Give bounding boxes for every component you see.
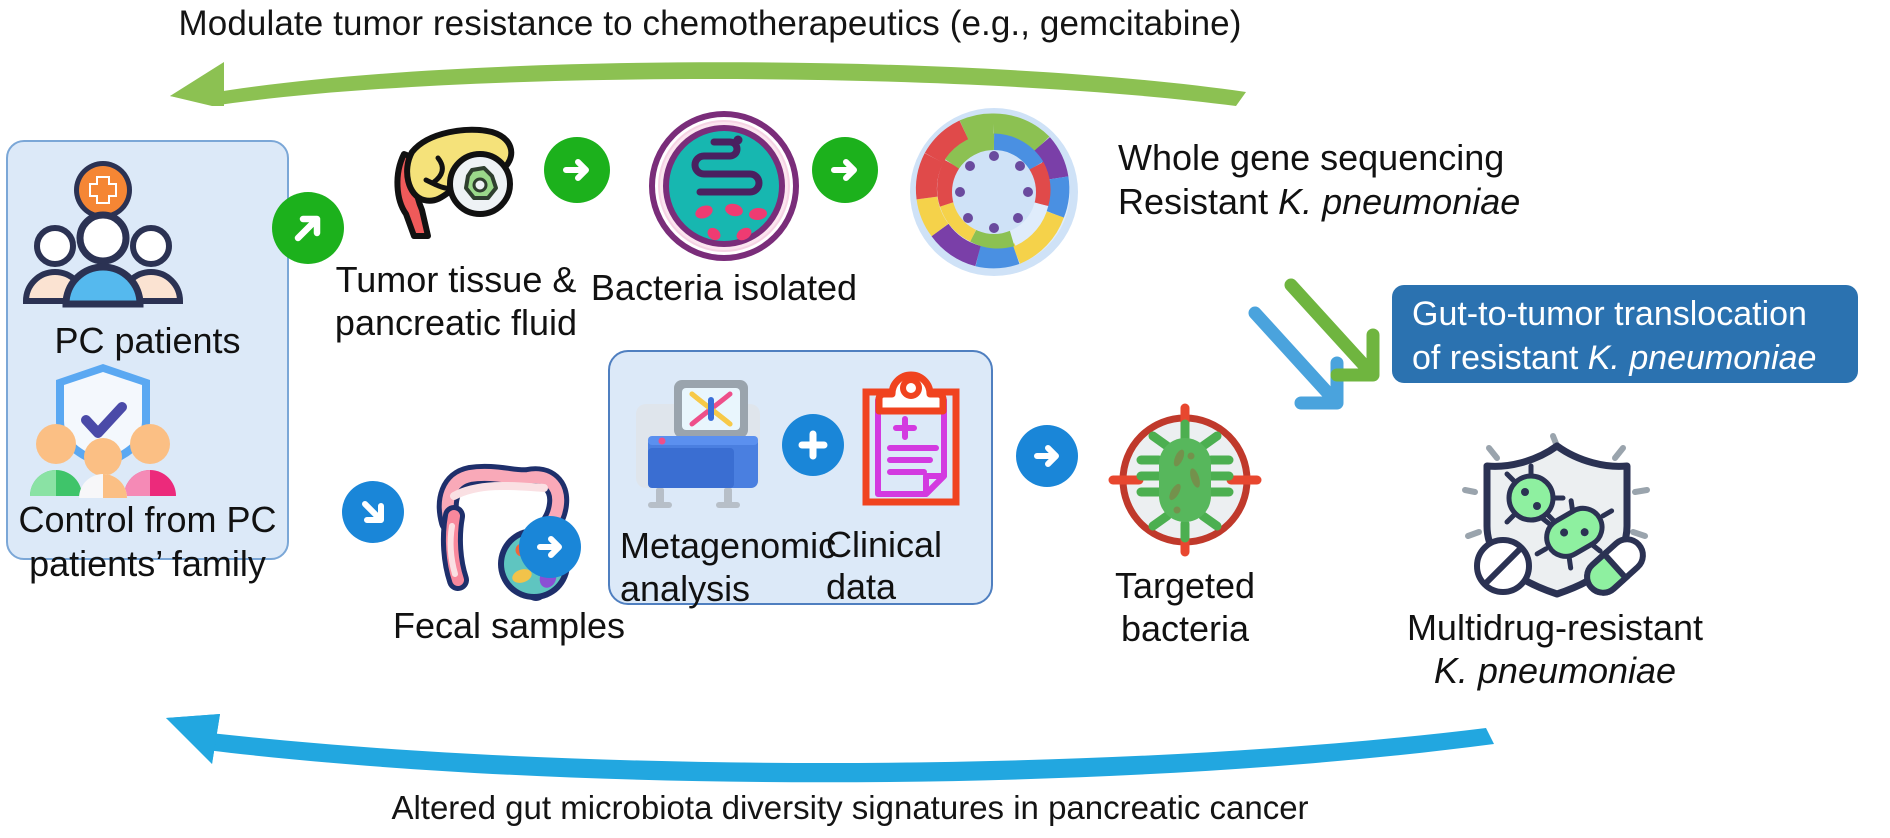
targeted-bacteria-icon <box>1105 400 1265 560</box>
bacteria-isolated-label: Bacteria isolated <box>591 267 857 308</box>
arrow-circle-blue-right-2 <box>1016 425 1078 487</box>
clinical-clipboard-icon <box>856 374 966 510</box>
node-bacteria-isolated: Bacteria isolated <box>648 110 800 262</box>
family-group: Control from PC patients’ family <box>8 358 287 586</box>
bottom-caption: Altered gut microbiota diversity signatu… <box>0 789 1700 827</box>
figure-canvas: Modulate tumor resistance to chemotherap… <box>0 0 1890 838</box>
translocation-callout: Gut-to-tumor translocation of resistant … <box>1392 285 1858 383</box>
plus-circle-blue <box>782 414 844 476</box>
patients-group-label: PC patients <box>8 320 287 362</box>
targeted-bacteria-label-line1: Targeted <box>1115 565 1255 606</box>
arrow-circle-green-diagonal <box>272 192 344 264</box>
family-group-label-line2: patients’ family <box>29 543 266 584</box>
bacteria-petri-dish-icon <box>648 110 800 262</box>
multidrug-resistant-label-line2: K. pneumoniae <box>1434 650 1676 691</box>
callout-line2-italic: K. pneumoniae <box>1588 339 1817 377</box>
resistant-kp-label-plain: Resistant <box>1118 181 1278 222</box>
family-group-label-line1: Control from PC <box>18 499 276 540</box>
top-caption: Modulate tumor resistance to chemotherap… <box>0 4 1420 44</box>
tumor-tissue-label-line2: pancreatic fluid <box>335 302 577 343</box>
family-shield-icon <box>8 358 198 498</box>
sequencer-machine-icon <box>622 370 782 515</box>
arrow-circle-green-right-2 <box>812 137 878 203</box>
metagenomic-label-line2: analysis <box>620 568 750 609</box>
patients-group: PC patients <box>8 158 287 362</box>
node-targeted-bacteria: Targeted bacteria <box>1105 400 1265 560</box>
metagenomic-label-line1: Metagenomic <box>620 525 836 566</box>
node-multidrug-resistant: Multidrug-resistant K. pneumoniae <box>1465 440 1645 600</box>
patients-group-icon <box>8 158 198 318</box>
node-whole-gene-sequencing: Whole gene sequencing Resistant K. pneum… <box>908 106 1080 278</box>
tumor-tissue-label-line1: Tumor tissue & <box>336 259 577 300</box>
green-feedback-arrow <box>150 48 1260 108</box>
whole-gene-sequencing-label-line1: Whole gene sequencing <box>1118 137 1504 178</box>
pancreas-tumor-icon <box>376 118 536 248</box>
patients-panel: PC patients Control from PC <box>6 140 289 560</box>
blue-feedback-arrow <box>150 712 1500 780</box>
fecal-samples-label: Fecal samples <box>393 605 625 646</box>
resistant-kp-label-italic: K. pneumoniae <box>1278 181 1520 222</box>
callout-line2-plain: of resistant <box>1412 339 1588 377</box>
arrow-circle-green-right-1 <box>544 137 610 203</box>
multidrug-resistant-label-line1: Multidrug-resistant <box>1407 607 1703 648</box>
callout-line1: Gut-to-tumor translocation <box>1412 293 1842 337</box>
multidrug-resistant-shield-icon <box>1465 440 1665 600</box>
targeted-bacteria-label-line2: bacteria <box>1121 608 1249 649</box>
arrow-circle-blue-diagonal <box>342 481 404 543</box>
metagenomic-analysis-panel: Metagenomic analysis Clinical data <box>608 350 993 605</box>
arrow-circle-blue-right-1 <box>519 516 581 578</box>
node-tumor-tissue: Tumor tissue & pancreatic fluid <box>376 118 536 248</box>
circular-genome-icon <box>908 106 1080 278</box>
clinical-data-label: Clinical data <box>826 524 942 607</box>
